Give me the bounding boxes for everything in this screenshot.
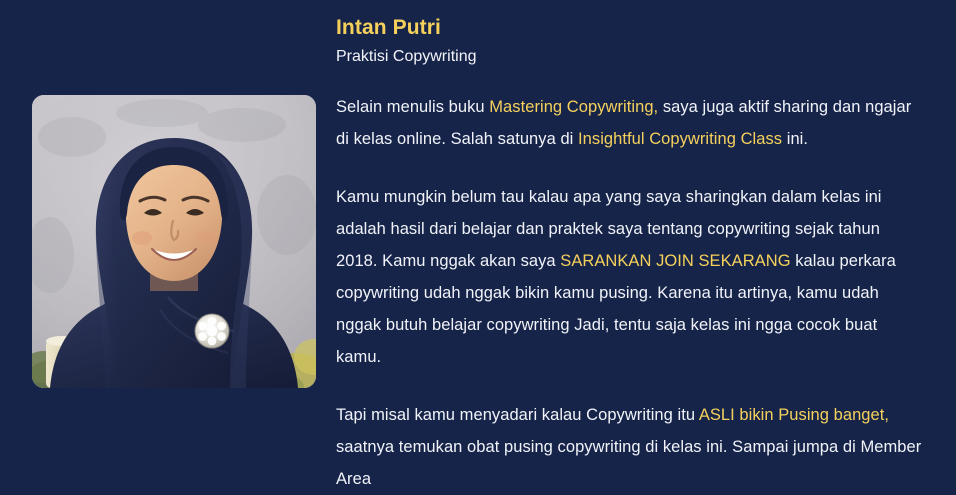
p3-text-1: Tapi misal kamu menyadari kalau Copywrit… bbox=[336, 406, 699, 424]
paragraph-2: Kamu mungkin belum tau kalau apa yang sa… bbox=[336, 181, 926, 373]
p1-text-1: Selain menulis buku bbox=[336, 98, 489, 116]
page-title: Intan Putri bbox=[336, 14, 926, 42]
brooch bbox=[195, 314, 229, 348]
profile-photo bbox=[32, 95, 316, 388]
profile-card: Intan Putri Praktisi Copywriting Selain … bbox=[0, 0, 956, 480]
paragraph-1: Selain menulis buku Mastering Copywritin… bbox=[336, 91, 926, 155]
p1-highlight-mastering-copywriting: Mastering Copywriting, bbox=[489, 98, 658, 116]
p2-highlight-sarankan-join-sekarang: SARANKAN JOIN SEKARANG bbox=[560, 252, 790, 270]
p1-highlight-insightful-copywriting-class: Insightful Copywriting Class bbox=[578, 130, 782, 148]
p1-text-3: ini. bbox=[782, 130, 808, 148]
p3-highlight-asli-bikin-pusing-banget: ASLI bikin Pusing banget, bbox=[699, 406, 889, 424]
profile-photo-image bbox=[32, 95, 316, 388]
paragraph-3: Tapi misal kamu menyadari kalau Copywrit… bbox=[336, 399, 926, 495]
p3-text-2: saatnya temukan obat pusing copywriting … bbox=[336, 438, 921, 488]
profile-text-column: Intan Putri Praktisi Copywriting Selain … bbox=[336, 14, 926, 495]
profile-role: Praktisi Copywriting bbox=[336, 45, 926, 69]
